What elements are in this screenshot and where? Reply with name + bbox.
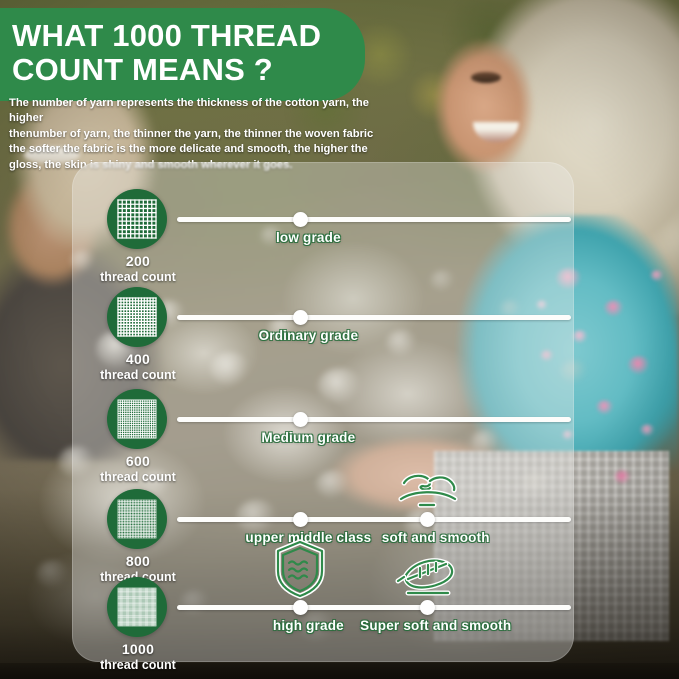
scale-panel: 200 thread count low grade 400 thread co… — [72, 162, 574, 662]
infographic-root: WHAT 1000 THREAD COUNT MEANS ? The numbe… — [0, 0, 679, 679]
scale-marker-dot[interactable] — [293, 412, 308, 427]
mesh-swatch-1000[interactable] — [107, 577, 167, 637]
grade-label: soft and smooth — [382, 530, 490, 545]
thread-count-unit: thread count — [100, 470, 176, 484]
thread-count-label: 200 thread count — [73, 253, 203, 284]
mesh-grid-icon — [118, 500, 156, 538]
scale-track[interactable] — [177, 315, 571, 320]
grade-label: Ordinary grade — [259, 328, 359, 343]
thread-count-number: 1000 — [73, 641, 203, 658]
shield-waves-icon — [274, 539, 326, 599]
mesh-swatch-600[interactable] — [107, 389, 167, 449]
scale-marker-dot[interactable] — [293, 512, 308, 527]
grade-label: low grade — [276, 230, 341, 245]
page-title: WHAT 1000 THREAD COUNT MEANS ? — [12, 19, 321, 87]
scale-track[interactable] — [177, 605, 571, 610]
scale-marker-dot[interactable] — [420, 600, 435, 615]
thread-count-number: 800 — [73, 553, 203, 570]
hand-soft-icon — [396, 467, 460, 513]
mesh-grid-icon — [118, 298, 156, 336]
mesh-grid-icon — [118, 588, 156, 626]
thread-count-label: 1000 thread count — [73, 641, 203, 672]
mesh-grid-icon — [118, 400, 156, 438]
mesh-swatch-200[interactable] — [107, 189, 167, 249]
thread-count-label: 600 thread count — [73, 453, 203, 484]
scale-marker-dot[interactable] — [293, 310, 308, 325]
mesh-swatch-800[interactable] — [107, 489, 167, 549]
mesh-swatch-400[interactable] — [107, 287, 167, 347]
title-banner: WHAT 1000 THREAD COUNT MEANS ? — [0, 8, 365, 101]
mesh-grid-icon — [118, 200, 156, 238]
feather-icon — [396, 555, 460, 601]
thread-count-number: 400 — [73, 351, 203, 368]
grade-label: Super soft and smooth — [360, 618, 511, 633]
scale-marker-dot[interactable] — [420, 512, 435, 527]
thread-count-label: 400 thread count — [73, 351, 203, 382]
scale-track[interactable] — [177, 217, 571, 222]
thread-count-unit: thread count — [100, 658, 176, 672]
scale-track[interactable] — [177, 417, 571, 422]
thread-count-unit: thread count — [100, 270, 176, 284]
grade-label: high grade — [273, 618, 344, 633]
thread-count-number: 200 — [73, 253, 203, 270]
grade-label: Medium grade — [261, 430, 355, 445]
scale-marker-dot[interactable] — [293, 600, 308, 615]
thread-count-unit: thread count — [100, 368, 176, 382]
scale-track[interactable] — [177, 517, 571, 522]
scale-marker-dot[interactable] — [293, 212, 308, 227]
thread-count-number: 600 — [73, 453, 203, 470]
